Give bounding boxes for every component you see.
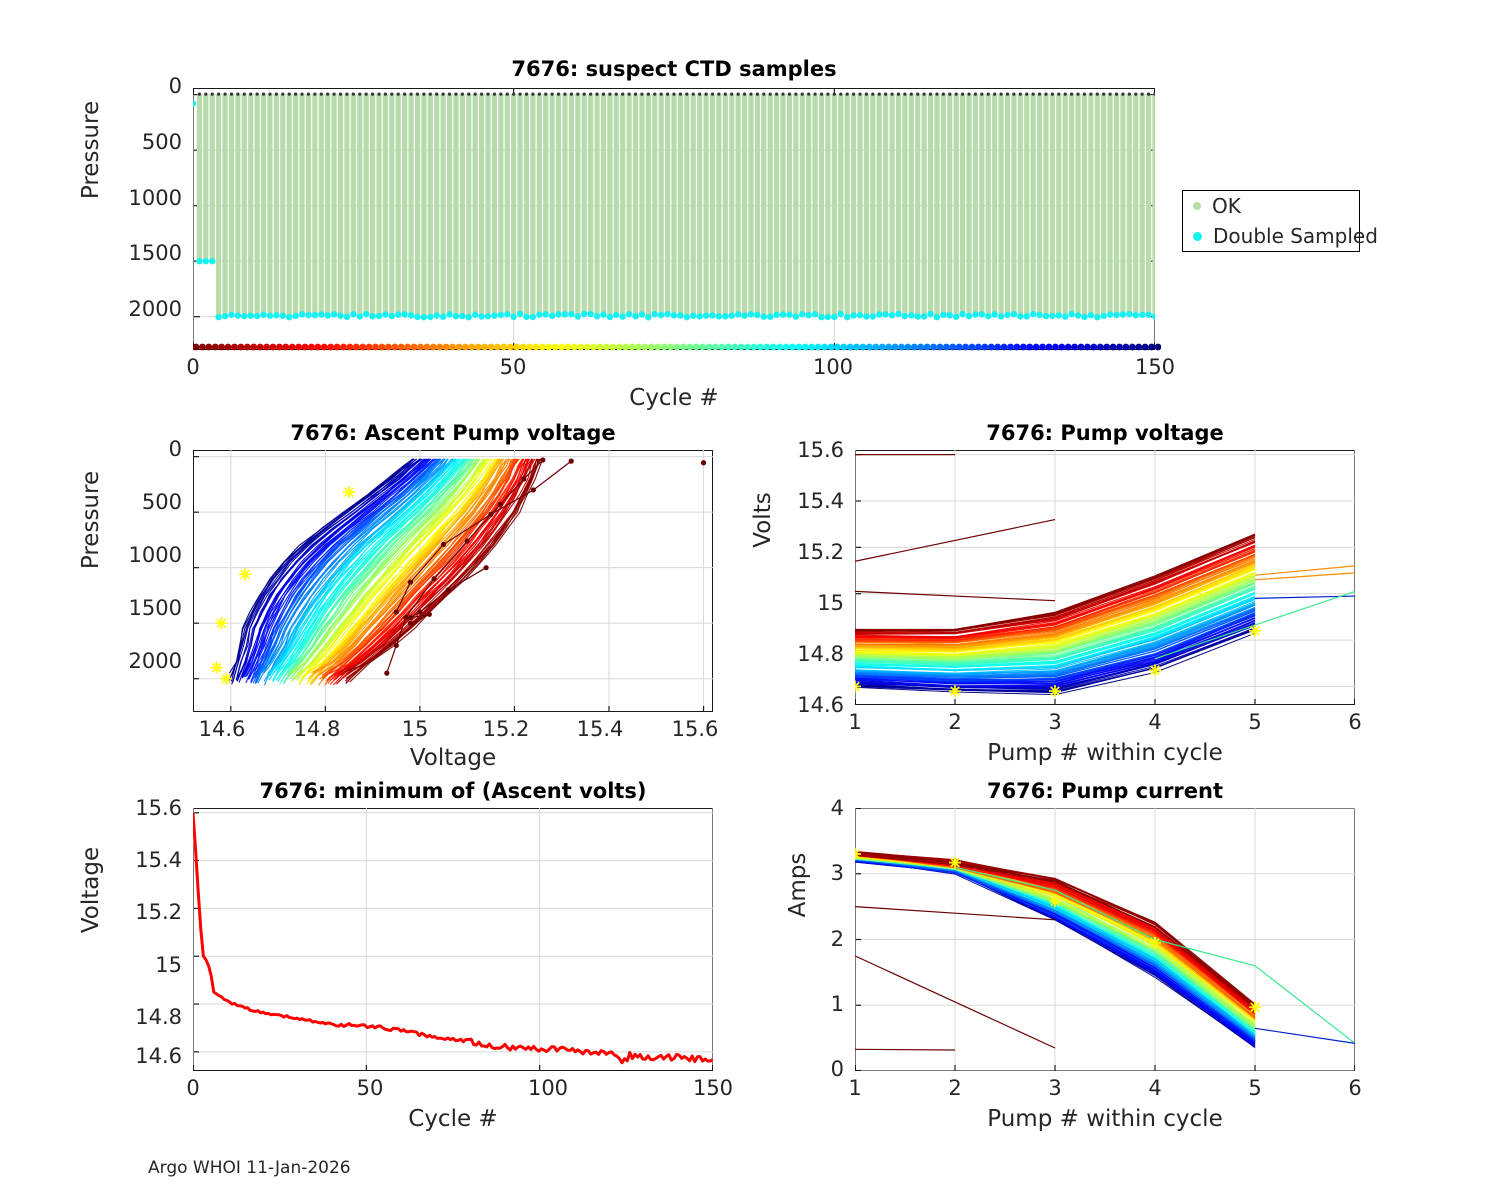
- ctd-ytick-0: 0: [110, 74, 182, 98]
- minvolts-panel-title: 7676: minimum of (Ascent volts): [193, 779, 713, 803]
- pumpcurrent-yaxis-label: Amps: [785, 785, 811, 985]
- legend-row-ok: OK: [1183, 191, 1359, 221]
- ascent-xtick-146: 14.6: [190, 717, 254, 741]
- ctd-ytick-2000: 2000: [98, 297, 182, 321]
- ctd-xtick-100: 100: [803, 355, 863, 379]
- ascent-ytick-1000: 1000: [98, 543, 182, 567]
- minvolts-ytick-152: 15.2: [98, 900, 182, 924]
- ctd-panel-title: 7676: suspect CTD samples: [193, 57, 1155, 81]
- pumpvolt-xtick-6: 6: [1330, 710, 1380, 734]
- ascent-xtick-152: 15.2: [474, 717, 538, 741]
- minvolts-ytick-146: 14.6: [98, 1044, 182, 1068]
- pumpcurrent-panel-title: 7676: Pump current: [855, 779, 1355, 803]
- ctd-xtick-150: 150: [1125, 355, 1185, 379]
- pumpcurrent-xaxis-label: Pump # within cycle: [855, 1106, 1355, 1132]
- ascent-xtick-15: 15: [390, 717, 440, 741]
- pumpcurrent-xtick-1: 1: [830, 1076, 880, 1100]
- ctd-ytick-1000: 1000: [98, 186, 182, 210]
- ctd-ytick-1500: 1500: [98, 241, 182, 265]
- legend-dot-ok: [1193, 202, 1201, 210]
- ctd-plot-canvas: [193, 88, 1155, 350]
- ascent-xtick-148: 14.8: [285, 717, 349, 741]
- pumpvolt-xtick-5: 5: [1230, 710, 1280, 734]
- ascent-plot-canvas: [193, 450, 713, 712]
- ctd-cycle-colorbar: [193, 338, 1161, 356]
- minvolts-xaxis-label: Cycle #: [193, 1106, 713, 1132]
- legend-dot-double-sampled: [1193, 232, 1202, 241]
- ascent-xtick-154: 15.4: [568, 717, 632, 741]
- minvolts-ytick-15: 15: [98, 953, 182, 977]
- minvolts-xtick-50: 50: [345, 1076, 395, 1100]
- pumpcurrent-xtick-2: 2: [930, 1076, 980, 1100]
- ctd-xtick-50: 50: [488, 355, 538, 379]
- minvolts-ytick-154: 15.4: [98, 848, 182, 872]
- ctd-legend: OK Double Sampled: [1182, 190, 1360, 252]
- pumpcurrent-xtick-5: 5: [1230, 1076, 1280, 1100]
- pumpvolt-ytick-148: 14.8: [760, 642, 844, 666]
- minvolts-plot-canvas: [193, 808, 713, 1071]
- ctd-xaxis-label: Cycle #: [193, 385, 1155, 411]
- figure-footer: Argo WHOI 11-Jan-2026: [148, 1158, 351, 1178]
- minvolts-xtick-100: 100: [518, 1076, 578, 1100]
- minvolts-xtick-150: 150: [683, 1076, 743, 1100]
- ascent-panel-title: 7676: Ascent Pump voltage: [193, 421, 713, 445]
- ascent-ytick-500: 500: [110, 490, 182, 514]
- ascent-xaxis-label: Voltage: [193, 745, 713, 771]
- legend-label-ok: OK: [1212, 194, 1241, 218]
- ascent-yaxis-label: Pressure: [78, 400, 104, 640]
- pumpcurrent-ytick-1: 1: [790, 992, 844, 1016]
- minvolts-ytick-156: 15.6: [98, 796, 182, 820]
- ctd-ytick-500: 500: [110, 130, 182, 154]
- legend-label-double-sampled: Double Sampled: [1213, 224, 1378, 248]
- ascent-ytick-0: 0: [110, 437, 182, 461]
- pumpcurrent-xtick-6: 6: [1330, 1076, 1380, 1100]
- pumpcurrent-plot-canvas: [855, 808, 1355, 1071]
- pumpcurrent-xtick-4: 4: [1130, 1076, 1180, 1100]
- pumpvolt-panel-title: 7676: Pump voltage: [855, 421, 1355, 445]
- pumpvolt-yaxis-label: Volts: [750, 420, 776, 620]
- minvolts-ytick-148: 14.8: [98, 1005, 182, 1029]
- pumpvolt-xtick-1: 1: [830, 710, 880, 734]
- pumpvolt-plot-canvas: [855, 450, 1355, 705]
- ctd-yaxis-label: Pressure: [78, 30, 104, 270]
- minvolts-xtick-0: 0: [168, 1076, 218, 1100]
- pumpvolt-xtick-2: 2: [930, 710, 980, 734]
- ascent-ytick-2000: 2000: [98, 649, 182, 673]
- ctd-xtick-0: 0: [168, 355, 218, 379]
- pumpvolt-xaxis-label: Pump # within cycle: [855, 740, 1355, 766]
- pumpvolt-xtick-3: 3: [1030, 710, 1080, 734]
- minvolts-yaxis-label: Voltage: [78, 780, 104, 1000]
- ascent-ytick-1500: 1500: [98, 596, 182, 620]
- legend-row-double-sampled: Double Sampled: [1183, 221, 1359, 251]
- pumpcurrent-xtick-3: 3: [1030, 1076, 1080, 1100]
- ascent-xtick-156: 15.6: [663, 717, 727, 741]
- pumpvolt-xtick-4: 4: [1130, 710, 1180, 734]
